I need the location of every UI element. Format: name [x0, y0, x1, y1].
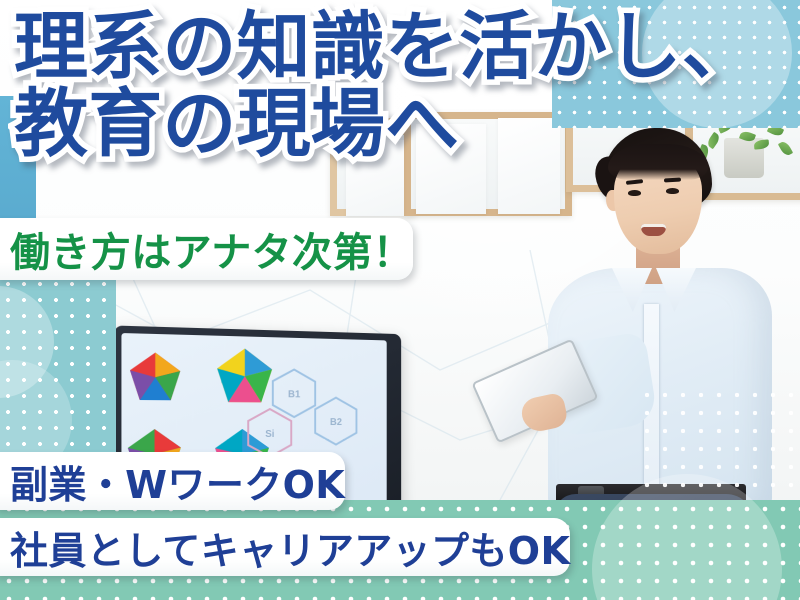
trousers [554, 494, 754, 600]
benefit-band-career: 社員としてキャリアアップもOK [0, 518, 570, 576]
hex-label: B1 [288, 389, 301, 400]
subtitle-text: 働き方はアナタ次第！ [10, 220, 413, 278]
headline-line-1: 理系の知識を活かし、 [14, 12, 784, 83]
hex-label: Si [265, 429, 274, 440]
eye [628, 190, 641, 196]
benefit-band-side-job: 副業・WワークOK [0, 452, 345, 510]
eye [666, 188, 679, 194]
mouth [641, 224, 666, 236]
recruitment-poster: B1 Si B2 [0, 0, 800, 600]
benefit-text-side-job: 副業・WワークOK [10, 454, 345, 509]
hex-label: B2 [330, 417, 342, 428]
subtitle-band: 働き方はアナタ次第！ [0, 218, 413, 280]
headline-line-2: 教育の現場へ [14, 89, 784, 160]
headline: 理系の知識を活かし、 教育の現場へ [14, 12, 784, 160]
benefit-text-career: 社員としてキャリアアップもOK [10, 520, 570, 575]
